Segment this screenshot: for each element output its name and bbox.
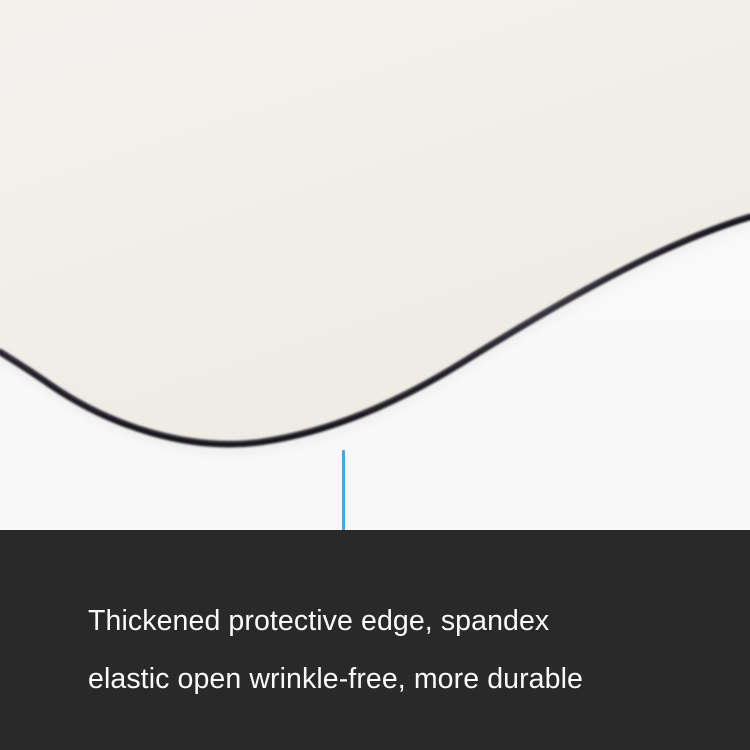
caption-line-1: Thickened protective edge, spandex bbox=[88, 592, 680, 650]
product-detail-image: Thickened protective edge, spandex elast… bbox=[0, 0, 750, 750]
caption-band: Thickened protective edge, spandex elast… bbox=[0, 530, 750, 750]
caption-line-2: elastic open wrinkle-free, more durable bbox=[88, 650, 680, 708]
